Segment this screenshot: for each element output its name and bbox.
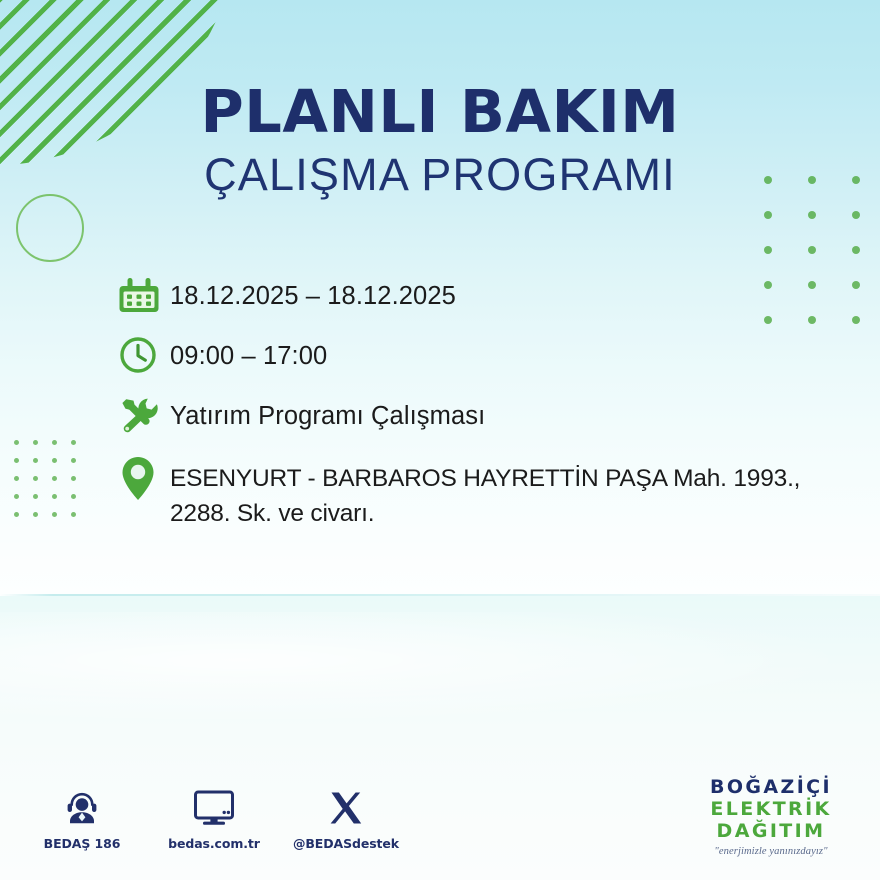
detail-row-time: 09:00 – 17:00 [118, 332, 858, 378]
footer-contacts: BEDAŞ 186 bedas.com.tr @BEDASdestek [34, 786, 394, 851]
detail-location-text: ESENYURT - BARBAROS HAYRETTİN PAŞA Mah. … [170, 456, 858, 532]
detail-date-text: 18.12.2025 – 18.12.2025 [170, 272, 456, 315]
detail-row-location: ESENYURT - BARBAROS HAYRETTİN PAŞA Mah. … [118, 456, 858, 532]
clock-icon [118, 332, 170, 378]
x-twitter-icon [327, 786, 365, 830]
detail-row-work-type: Yatırım Programı Çalışması [118, 392, 858, 438]
calendar-icon [118, 272, 170, 318]
contact-x-label: @BEDASdestek [293, 836, 399, 851]
contact-website[interactable]: bedas.com.tr [166, 786, 262, 851]
contact-website-label: bedas.com.tr [168, 836, 260, 851]
page-title: PLANLI BAKIM [0, 82, 880, 142]
detail-time-text: 09:00 – 17:00 [170, 332, 327, 375]
circle-outline-decoration [16, 194, 84, 262]
brand-line-dagitim: DAĞITIM [688, 820, 854, 842]
page-subtitle: ÇALIŞMA PROGRAMI [0, 150, 880, 200]
company-logo: BOĞAZİÇİ ELEKTRİK DAĞITIM "enerjimizle y… [688, 776, 854, 857]
contact-x-account[interactable]: @BEDASdestek [298, 786, 394, 851]
contact-phone[interactable]: BEDAŞ 186 [34, 786, 130, 851]
poster-title-block: PLANLI BAKIM ÇALIŞMA PROGRAMI [0, 82, 880, 201]
monitor-icon [192, 786, 236, 830]
maintenance-details-list: 18.12.2025 – 18.12.2025 09:00 – 17:00 [118, 272, 858, 546]
call-center-agent-icon [62, 786, 102, 830]
brand-line-bogazici: BOĞAZİÇİ [688, 776, 854, 798]
brand-line-elektrik: ELEKTRİK [688, 798, 854, 820]
detail-work-type-text: Yatırım Programı Çalışması [170, 392, 485, 435]
panel-divider [0, 594, 880, 596]
location-pin-icon [118, 456, 170, 502]
dot-grid-left-decoration [14, 440, 90, 530]
contact-phone-label: BEDAŞ 186 [44, 836, 121, 851]
planned-maintenance-poster: PLANLI BAKIM ÇALIŞMA PROGRAMI [0, 0, 880, 880]
tools-icon [118, 392, 170, 438]
detail-row-date: 18.12.2025 – 18.12.2025 [118, 272, 858, 318]
brand-tagline: "enerjimizle yanınızdayız" [688, 846, 854, 857]
